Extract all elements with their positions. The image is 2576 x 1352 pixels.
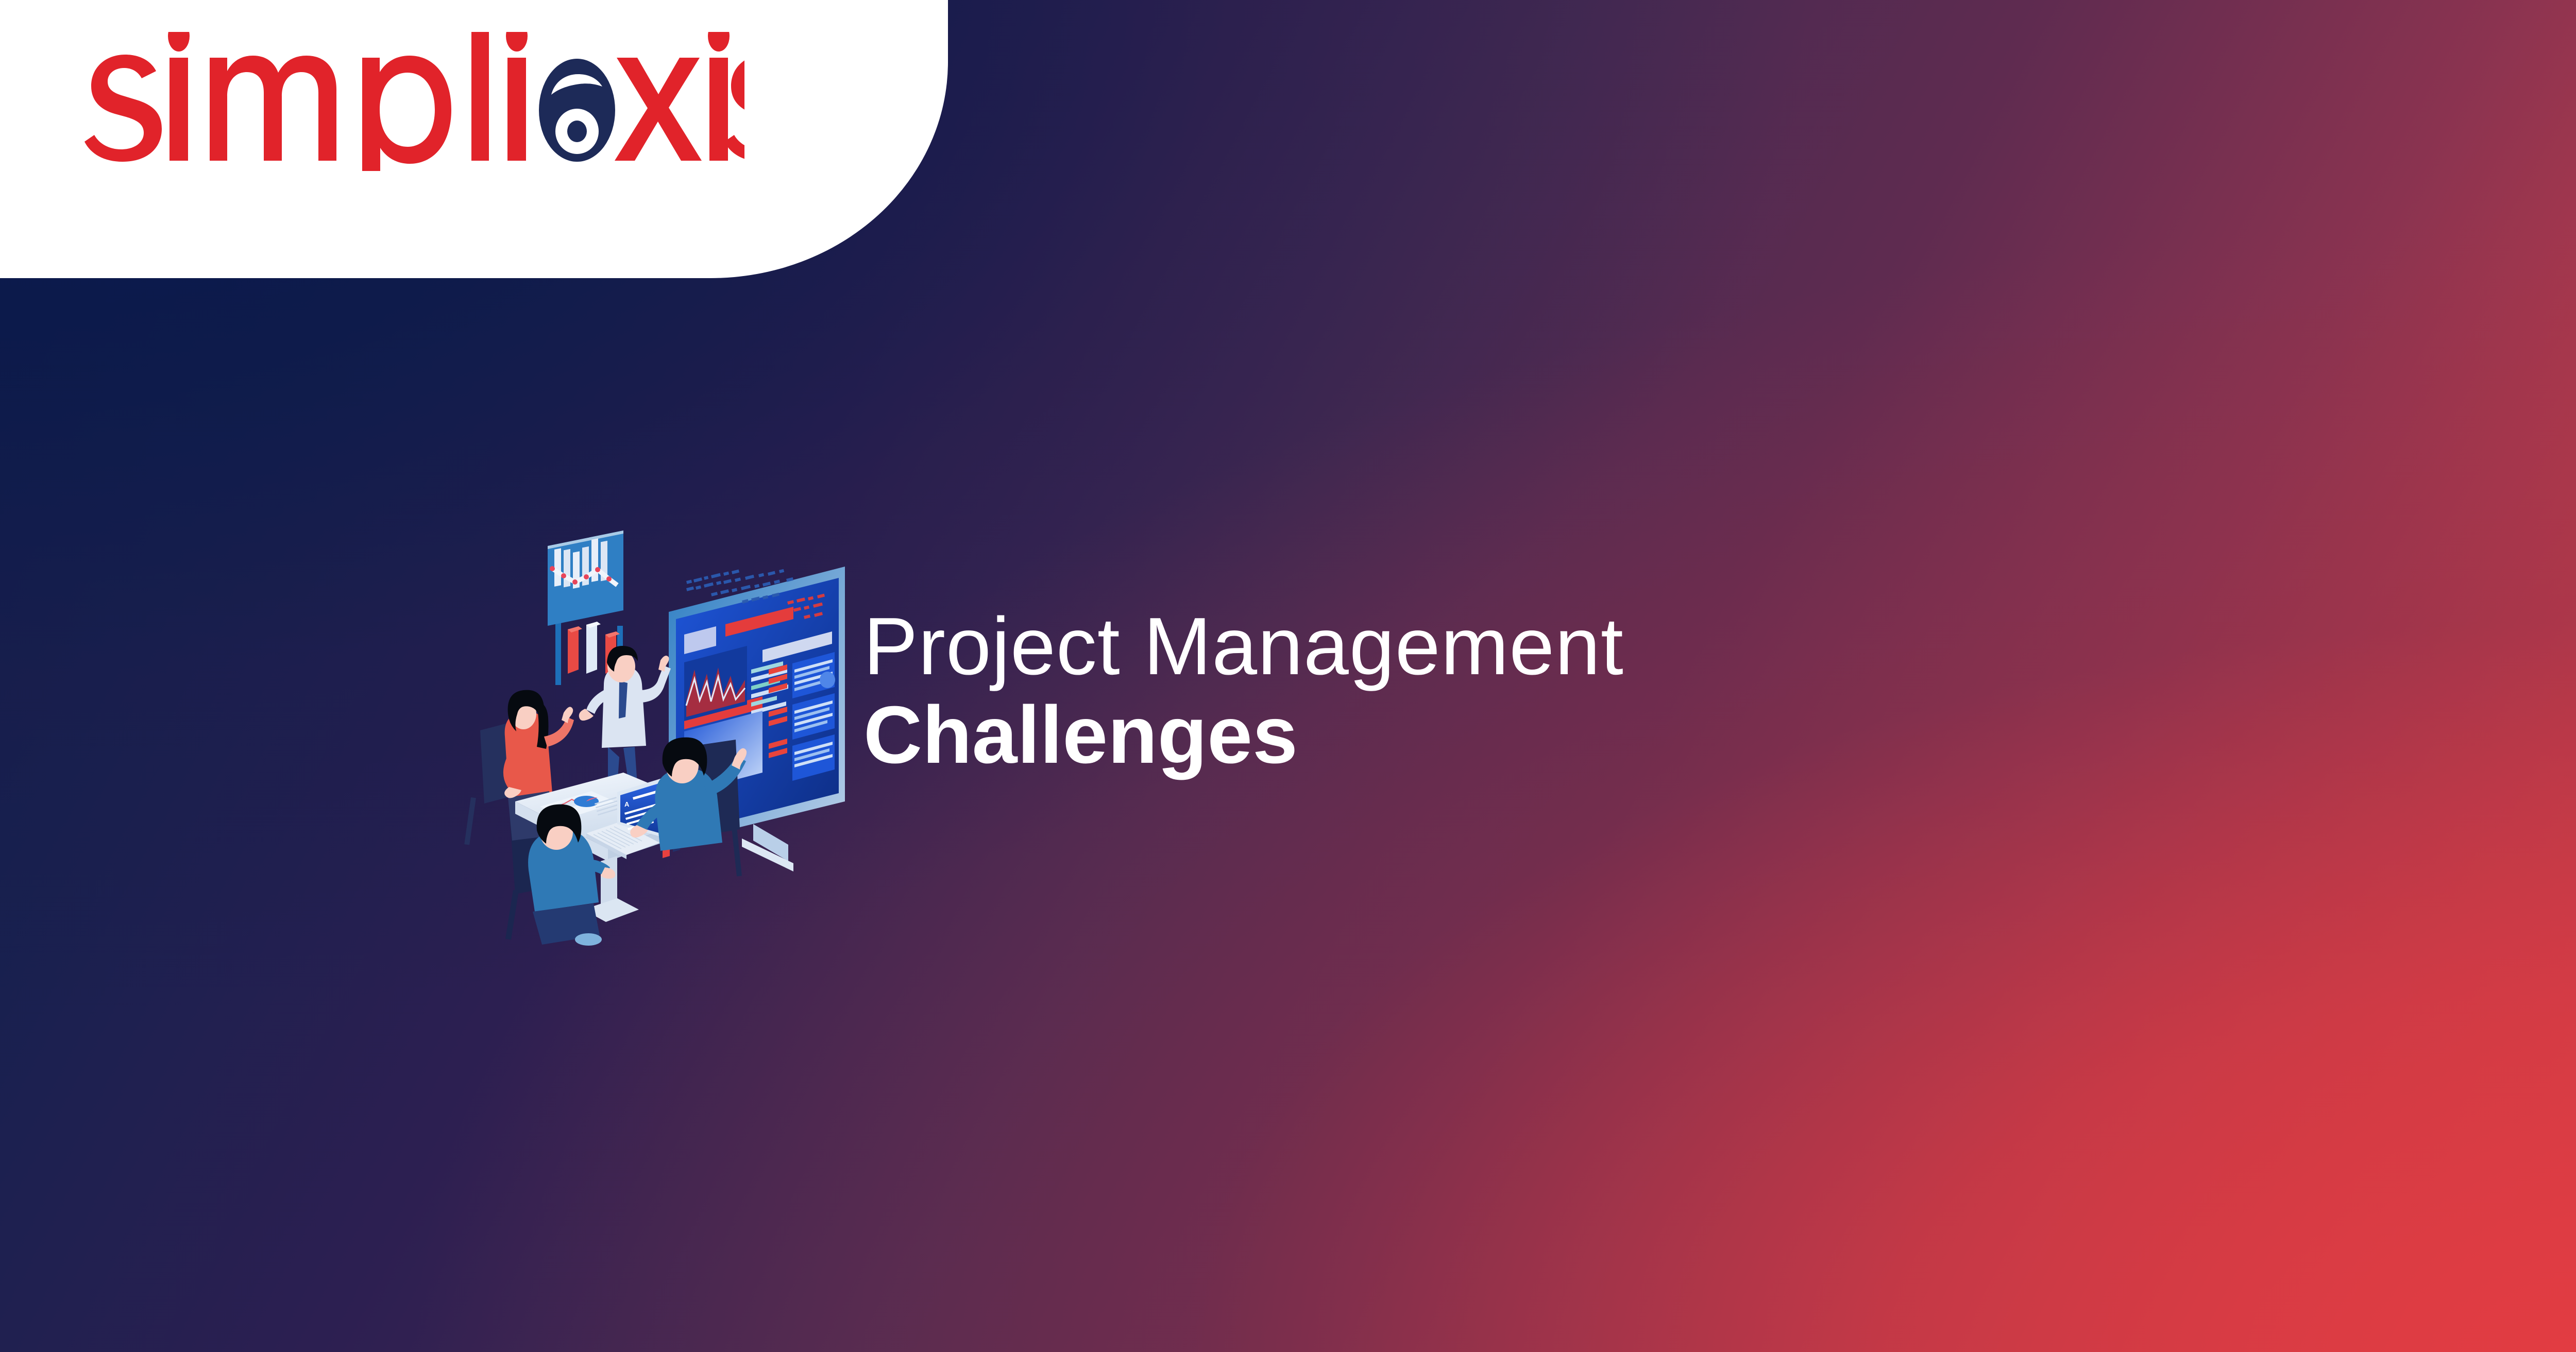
poster-canvas: A bbox=[0, 0, 2576, 1352]
page-title: Project Management Challenges bbox=[863, 604, 2409, 781]
logo-panel bbox=[0, 0, 948, 278]
logo-letter-i3-stem bbox=[709, 58, 728, 161]
logo-letter-i-stem bbox=[170, 58, 188, 161]
brand-logo[interactable] bbox=[64, 32, 744, 171]
logo-letter-i-dot bbox=[168, 32, 190, 52]
board-leg-left bbox=[555, 615, 561, 685]
presenter-arm-right bbox=[639, 665, 671, 703]
title-line-1: Project Management bbox=[863, 604, 2409, 690]
hero-illustration: A bbox=[453, 515, 845, 948]
logo-letter-i2-stem bbox=[507, 58, 526, 161]
logo-letter-i3-dot bbox=[708, 32, 730, 52]
woman-arm-raised bbox=[544, 717, 574, 747]
logo-letter-i2-dot bbox=[506, 32, 528, 52]
laptop-user-shoe bbox=[575, 933, 602, 946]
screen-circle-widget bbox=[820, 672, 835, 688]
logo-letter-l bbox=[471, 32, 489, 161]
logo-letter-x bbox=[615, 58, 702, 161]
logo-letter-m bbox=[210, 56, 336, 161]
title-line-2: Challenges bbox=[863, 690, 2409, 781]
logo-letter-s bbox=[84, 55, 162, 162]
logo-letter-p bbox=[362, 56, 451, 171]
logo-letter-a-mark bbox=[539, 59, 615, 162]
laptop-screen-glyph: A bbox=[624, 800, 630, 808]
